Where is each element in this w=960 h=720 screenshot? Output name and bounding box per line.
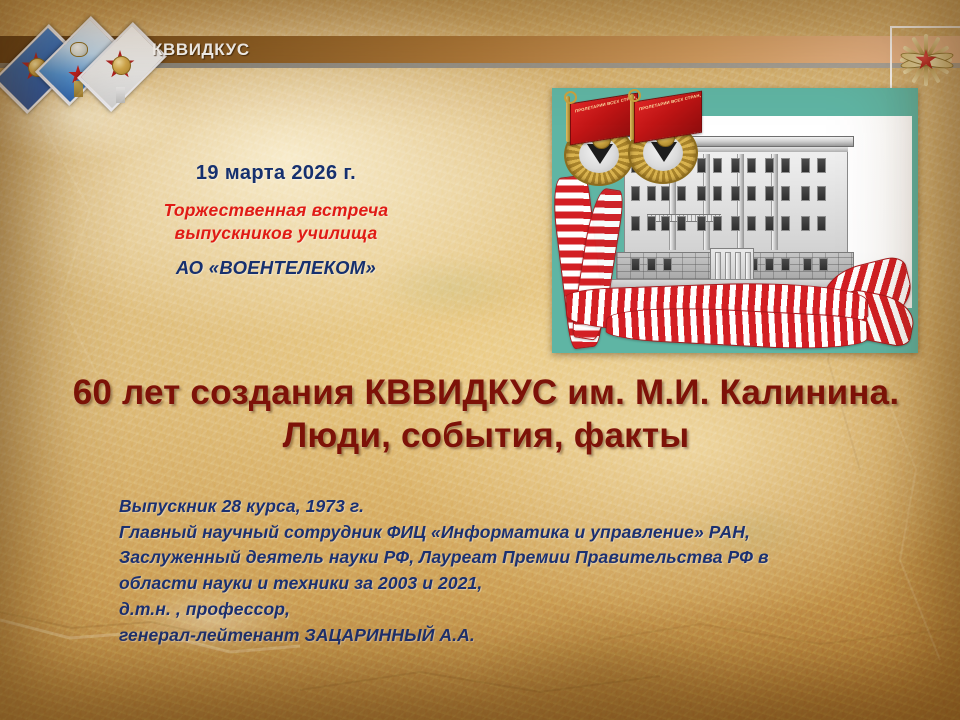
event-announcement-block: 19 марта 2026 г. Торжественная встреча в… [96,162,456,279]
bio-line: генерал-лейтенант ЗАЦАРИННЫЙ А.А. [119,623,909,649]
slide-canvas: КВВИДКУС 19 марта 2026 г. Торжественная … [0,0,960,720]
starburst-order-emblem-icon [898,32,954,88]
bio-line: Выпускник 28 курса, 1973 г. [119,494,909,520]
event-organization: АО «ВОЕНТЕЛЕКОМ» [96,257,456,279]
bio-line: д.т.н. , профессор, [119,597,909,623]
header-title: КВВИДКУС [152,39,250,61]
event-headline-line-2: выпускников училища [96,222,456,245]
order-motto-2: ПРОЛЕТАРИИ ВСЕХ СТРАН, СОЕДИНЯЙТЕСЬ! [639,93,697,112]
event-headline-line-1: Торжественная встреча [96,199,456,222]
speaker-bio-block: Выпускник 28 курса, 1973 г. Главный науч… [119,494,909,648]
bio-line: Заслуженный деятель науки РФ, Лауреат Пр… [119,545,909,571]
bio-line: области науки и техники за 2003 и 2021, [119,571,909,597]
order-motto-1: ПРОЛЕТАРИИ ВСЕХ СТРАН, СОЕДИНЯЙТЕСЬ! [575,95,633,114]
order-of-red-banner-2-icon: ПРОЛЕТАРИИ ВСЕХ СТРАН, СОЕДИНЯЙТЕСЬ! [626,96,702,184]
academy-badge-white-icon [96,26,144,104]
kvvidkus-building-illustration: ПРОЛЕТАРИИ ВСЕХ СТРАН, СОЕДИНЯЙТЕСЬ! ПРО… [552,88,918,353]
event-date: 19 марта 2026 г. [96,162,456,185]
main-title: 60 лет создания КВВИДКУС им. М.И. Калини… [64,372,908,457]
academy-badges-group [12,16,144,120]
bio-line: Главный научный сотрудник ФИЦ «Информати… [119,520,909,546]
